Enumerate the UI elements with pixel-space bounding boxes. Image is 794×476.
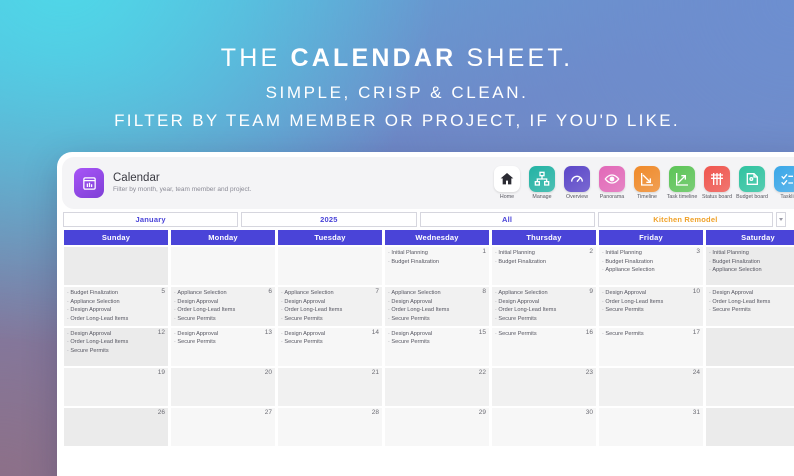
calendar-task[interactable]: Order Long-Lead Items xyxy=(281,306,379,315)
calendar-day-cell-31[interactable]: 31 xyxy=(598,407,704,447)
gauge-icon xyxy=(564,166,590,192)
toolbar-item-overview[interactable]: Overview xyxy=(562,166,592,200)
calendar-task[interactable]: Design Approval xyxy=(281,298,379,307)
calendar-task[interactable]: Order Long-Lead Items xyxy=(602,298,700,307)
day-number: 2 xyxy=(589,248,593,255)
calendar-day-cell-4[interactable]: 4Initial PlanningBudget FinalizationAppl… xyxy=(705,246,794,286)
calendar-task[interactable]: Design Approval xyxy=(388,330,486,339)
toolbar-item-timeline[interactable]: Timeline xyxy=(632,166,662,200)
calendar-day-cell-15[interactable]: 15Design ApprovalSecure Permits xyxy=(384,327,490,367)
day-number: 10 xyxy=(693,288,700,295)
calendar-day-cell-29[interactable]: 29 xyxy=(384,407,490,447)
calendar-day-cell-24[interactable]: 24 xyxy=(598,367,704,407)
note-pin-icon xyxy=(739,166,765,192)
calendar-day-cell-27[interactable]: 27 xyxy=(170,407,276,447)
hero-subline-2: FILTER BY TEAM MEMBER OR PROJECT, IF YOU… xyxy=(0,111,794,131)
day-number: 27 xyxy=(265,409,272,416)
day-header-wednesday: Wednesday xyxy=(384,229,490,246)
calendar-task[interactable]: Budget Finalization xyxy=(709,258,794,267)
toolbar-item-budget-board[interactable]: Budget board xyxy=(737,166,767,200)
eye-icon xyxy=(599,166,625,192)
calendar-app-icon xyxy=(74,168,104,198)
page-subtitle: Filter by month, year, team member and p… xyxy=(113,186,251,195)
toolbar-item-label: Budget board xyxy=(736,194,768,200)
checklist-icon xyxy=(774,166,794,192)
calendar-day-cell-11[interactable]: 11Design ApprovalOrder Long-Lead ItemsSe… xyxy=(705,286,794,327)
calendar-task[interactable]: Appliance Selection xyxy=(602,266,700,275)
day-number: 30 xyxy=(586,409,593,416)
day-number: 20 xyxy=(265,369,272,376)
toolbar-item-label: Task timeline xyxy=(667,194,698,200)
calendar-day-cell-empty[interactable] xyxy=(63,246,169,286)
calendar-task[interactable]: Budget Finalization xyxy=(67,289,165,298)
calendar-task[interactable]: Design Approval xyxy=(602,289,700,298)
toolbar-item-label: Timeline xyxy=(637,194,657,200)
day-number: 23 xyxy=(586,369,593,376)
calendar-task[interactable]: Order Long-Lead Items xyxy=(709,298,794,307)
calendar-task[interactable]: Secure Permits xyxy=(67,347,165,356)
day-number: 31 xyxy=(693,409,700,416)
hero-headline: THE CALENDAR SHEET. xyxy=(0,44,794,73)
calendar-task[interactable]: Order Long-Lead Items xyxy=(174,306,272,315)
calendar-task[interactable]: Secure Permits xyxy=(388,315,486,324)
day-number: 12 xyxy=(158,329,165,336)
calendar-task[interactable]: Design Approval xyxy=(67,330,165,339)
calendar-task[interactable]: Appliance Selection xyxy=(388,289,486,298)
calendar-task[interactable]: Budget Finalization xyxy=(495,258,593,267)
calendar-day-headers: SundayMondayTuesdayWednesdayThursdayFrid… xyxy=(57,229,794,246)
calendar-app-card: Calendar Filter by month, year, team mem… xyxy=(57,152,794,476)
day-number: 1 xyxy=(482,248,486,255)
calendar-task[interactable]: Design Approval xyxy=(174,330,272,339)
calendar-task[interactable]: Secure Permits xyxy=(281,315,379,324)
calendar-day-cell-empty[interactable] xyxy=(705,407,794,447)
calendar-day-cell-19[interactable]: 19 xyxy=(63,367,169,407)
calendar-day-cell-7[interactable]: 7Appliance SelectionDesign ApprovalOrder… xyxy=(277,286,383,327)
toolbar-item-manage[interactable]: Manage xyxy=(527,166,557,200)
chart-down-icon xyxy=(634,166,660,192)
day-number: 28 xyxy=(372,409,379,416)
day-number: 14 xyxy=(372,329,379,336)
day-number: 22 xyxy=(479,369,486,376)
calendar-day-cell-23[interactable]: 23 xyxy=(491,367,597,407)
calendar-task[interactable]: Order Long-Lead Items xyxy=(67,315,165,324)
day-header-monday: Monday xyxy=(170,229,276,246)
chevron-down-icon[interactable] xyxy=(776,212,786,227)
day-number: 5 xyxy=(161,288,165,295)
calendar-task[interactable]: Secure Permits xyxy=(495,330,593,339)
calendar-task[interactable]: Order Long-Lead Items xyxy=(67,338,165,347)
calendar-week-row: 1Initial PlanningBudget Finalization2Ini… xyxy=(63,246,794,286)
calendar-task[interactable]: Order Long-Lead Items xyxy=(388,306,486,315)
day-number: 17 xyxy=(693,329,700,336)
calendar-day-cell-12[interactable]: 12Design ApprovalOrder Long-Lead ItemsSe… xyxy=(63,327,169,367)
grid-board-icon xyxy=(704,166,730,192)
toolbar-item-label: Status board xyxy=(702,194,732,200)
day-header-tuesday: Tuesday xyxy=(277,229,383,246)
calendar-day-cell-22[interactable]: 22 xyxy=(384,367,490,407)
calendar-day-cell-28[interactable]: 28 xyxy=(277,407,383,447)
day-number: 19 xyxy=(158,369,165,376)
filter-year[interactable]: 2025 xyxy=(241,212,416,227)
calendar-day-cell-8[interactable]: 8Appliance SelectionDesign ApprovalOrder… xyxy=(384,286,490,327)
calendar-task[interactable]: Initial Planning xyxy=(388,249,486,258)
day-header-friday: Friday xyxy=(598,229,704,246)
day-header-sunday: Sunday xyxy=(63,229,169,246)
org-chart-icon xyxy=(529,166,555,192)
calendar-day-cell-30[interactable]: 30 xyxy=(491,407,597,447)
calendar-day-cell-empty[interactable] xyxy=(277,246,383,286)
calendar-task[interactable]: Appliance Selection xyxy=(67,298,165,307)
calendar-day-cell-16[interactable]: 16Secure Permits xyxy=(491,327,597,367)
toolbar-item-status-board[interactable]: Status board xyxy=(702,166,732,200)
calendar-day-cell-13[interactable]: 13Design ApprovalSecure Permits xyxy=(170,327,276,367)
day-number: 6 xyxy=(268,288,272,295)
calendar-task[interactable]: Design Approval xyxy=(174,298,272,307)
hero-headline-post: SHEET. xyxy=(456,44,573,72)
day-number: 8 xyxy=(482,288,486,295)
page-title: Calendar xyxy=(113,171,251,185)
calendar-task[interactable]: Secure Permits xyxy=(602,306,700,315)
calendar-task[interactable]: Appliance Selection xyxy=(495,289,593,298)
calendar-grid: 1Initial PlanningBudget Finalization2Ini… xyxy=(57,246,794,447)
toolbar-item-label: Manage xyxy=(532,194,551,200)
app-header: Calendar Filter by month, year, team mem… xyxy=(62,157,794,209)
day-number: 21 xyxy=(372,369,379,376)
toolbar-item-panorama[interactable]: Panorama xyxy=(597,166,627,200)
day-number: 26 xyxy=(158,409,165,416)
calendar-task[interactable]: Design Approval xyxy=(709,289,794,298)
toolbar-item-label: Overview xyxy=(566,194,588,200)
app-brand: Calendar Filter by month, year, team mem… xyxy=(74,168,251,198)
calendar-task[interactable]: Initial Planning xyxy=(495,249,593,258)
filter-team-member[interactable]: All xyxy=(420,212,595,227)
calendar-week-row: 19202122232425 xyxy=(63,367,794,407)
calendar-day-cell-18[interactable]: 18 xyxy=(705,327,794,367)
toolbar-item-label: Home xyxy=(500,194,514,200)
calendar-task[interactable]: Appliance Selection xyxy=(709,266,794,275)
calendar-task[interactable]: Initial Planning xyxy=(602,249,700,258)
calendar-task[interactable]: Design Approval xyxy=(388,298,486,307)
day-number: 3 xyxy=(696,248,700,255)
toolbar-item-label: Panorama xyxy=(600,194,624,200)
calendar-week-row: 262728293031 xyxy=(63,407,794,447)
calendar-day-cell-5[interactable]: 5Budget FinalizationAppliance SelectionD… xyxy=(63,286,169,327)
calendar-task[interactable]: Design Approval xyxy=(495,298,593,307)
day-number: 9 xyxy=(589,288,593,295)
calendar-day-cell-17[interactable]: 17Secure Permits xyxy=(598,327,704,367)
day-number: 7 xyxy=(375,288,379,295)
calendar-task[interactable]: Budget Finalization xyxy=(388,258,486,267)
calendar-day-cell-20[interactable]: 20 xyxy=(170,367,276,407)
calendar-week-row: 5Budget FinalizationAppliance SelectionD… xyxy=(63,286,794,327)
toolbar-item-home[interactable]: Home xyxy=(492,166,522,200)
calendar-task[interactable]: Secure Permits xyxy=(388,338,486,347)
toolbar-item-task-timeline[interactable]: Task timeline xyxy=(667,166,697,200)
calendar-day-cell-9[interactable]: 9Appliance SelectionDesign ApprovalOrder… xyxy=(491,286,597,327)
calendar-day-cell-6[interactable]: 6Appliance SelectionDesign ApprovalOrder… xyxy=(170,286,276,327)
app-brand-text: Calendar Filter by month, year, team mem… xyxy=(113,171,251,194)
calendar-task[interactable]: Order Long-Lead Items xyxy=(495,306,593,315)
calendar-task[interactable]: Secure Permits xyxy=(495,315,593,324)
calendar-task[interactable]: Appliance Selection xyxy=(281,289,379,298)
day-header-saturday: Saturday xyxy=(705,229,794,246)
calendar-task[interactable]: Design Approval xyxy=(281,330,379,339)
calendar-day-cell-2[interactable]: 2Initial PlanningBudget Finalization xyxy=(491,246,597,286)
toolbar: HomeManageOverviewPanoramaTimelineTask t… xyxy=(492,166,794,200)
calendar-task[interactable]: Secure Permits xyxy=(709,306,794,315)
home-icon xyxy=(494,166,520,192)
calendar-task[interactable]: Secure Permits xyxy=(174,315,272,324)
calendar-day-cell-14[interactable]: 14Design ApprovalSecure Permits xyxy=(277,327,383,367)
calendar-task[interactable]: Appliance Selection xyxy=(174,289,272,298)
calendar-task[interactable]: Secure Permits xyxy=(174,338,272,347)
calendar-week-row: 12Design ApprovalOrder Long-Lead ItemsSe… xyxy=(63,327,794,367)
hero-text: THE CALENDAR SHEET. SIMPLE, CRISP & CLEA… xyxy=(0,44,794,131)
chart-up-icon xyxy=(669,166,695,192)
calendar-day-cell-1[interactable]: 1Initial PlanningBudget Finalization xyxy=(384,246,490,286)
day-number: 29 xyxy=(479,409,486,416)
calendar-day-cell-3[interactable]: 3Initial PlanningBudget FinalizationAppl… xyxy=(598,246,704,286)
calendar-task[interactable]: Design Approval xyxy=(67,306,165,315)
hero-headline-pre: THE xyxy=(221,44,291,72)
toolbar-item-label: Taskli xyxy=(780,194,793,200)
filter-month[interactable]: January xyxy=(63,212,238,227)
play-arrow-icon[interactable] xyxy=(789,212,794,227)
calendar-day-cell-21[interactable]: 21 xyxy=(277,367,383,407)
toolbar-item-taskli[interactable]: Taskli xyxy=(772,166,794,200)
day-number: 24 xyxy=(693,369,700,376)
filter-project[interactable]: Kitchen Remodel xyxy=(598,212,773,227)
calendar-task[interactable]: Initial Planning xyxy=(709,249,794,258)
day-number: 15 xyxy=(479,329,486,336)
calendar-day-cell-25[interactable]: 25 xyxy=(705,367,794,407)
filter-bar: January 2025 All Kitchen Remodel xyxy=(57,209,794,227)
day-number: 16 xyxy=(586,329,593,336)
calendar-task[interactable]: Secure Permits xyxy=(602,330,700,339)
hero-headline-bold: CALENDAR xyxy=(291,44,457,72)
hero-subline-1: SIMPLE, CRISP & CLEAN. xyxy=(0,83,794,103)
calendar-task[interactable]: Secure Permits xyxy=(281,338,379,347)
calendar-task[interactable]: Budget Finalization xyxy=(602,258,700,267)
calendar-day-cell-empty[interactable] xyxy=(170,246,276,286)
day-number: 13 xyxy=(265,329,272,336)
calendar-day-cell-10[interactable]: 10Design ApprovalOrder Long-Lead ItemsSe… xyxy=(598,286,704,327)
day-header-thursday: Thursday xyxy=(491,229,597,246)
calendar-day-cell-26[interactable]: 26 xyxy=(63,407,169,447)
